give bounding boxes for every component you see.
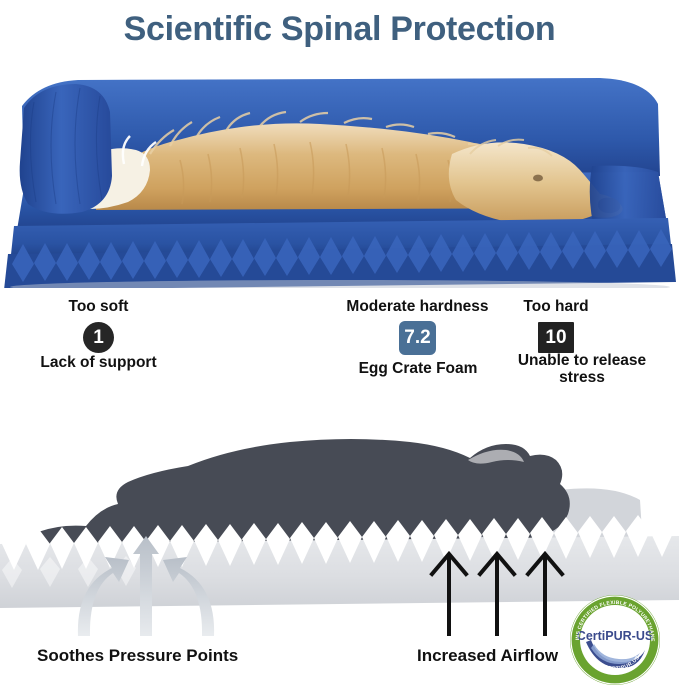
caption-increased-airflow: Increased Airflow: [417, 646, 558, 666]
page-title: Scientific Spinal Protection: [0, 0, 679, 58]
page-title-text: Scientific Spinal Protection: [124, 10, 556, 49]
hero-product-photo: [0, 58, 679, 288]
scale-label-unable-to-release-stress: Unable to release stress: [502, 352, 662, 387]
scale-badge-10: 10: [538, 322, 574, 353]
scale-label-moderate-hardness: Moderate hardness: [335, 298, 500, 315]
scale-label-egg-crate-foam: Egg Crate Foam: [343, 360, 493, 377]
scale-label-too-soft-top: Too soft: [46, 298, 151, 315]
dog-on-bed-illustration: [0, 58, 679, 288]
certipur-us-badge-icon: CertiPUR-US CONTAINS CERTIFIED FLEXIBLE …: [569, 594, 661, 686]
certipur-brand-text: CertiPUR-US: [577, 629, 653, 643]
caption-soothes-pressure-points: Soothes Pressure Points: [37, 646, 238, 666]
scale-label-lack-of-support: Lack of support: [16, 354, 181, 371]
product-infographic: Scientific Spinal Protection: [0, 0, 679, 691]
scale-badge-7-2: 7.2: [399, 321, 436, 355]
certipur-us-seal: CertiPUR-US CONTAINS CERTIFIED FLEXIBLE …: [569, 594, 661, 686]
scale-label-too-hard: Too hard: [512, 298, 600, 315]
scale-badge-1: 1: [83, 322, 114, 353]
